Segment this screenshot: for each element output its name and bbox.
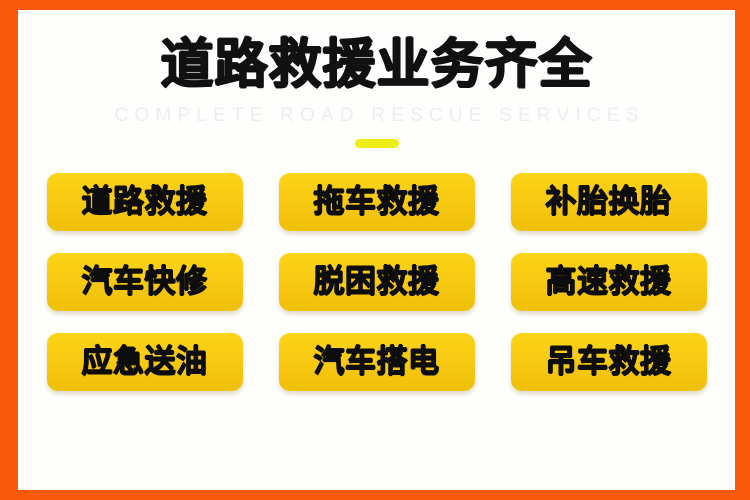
poster-frame: 道路救援业务齐全 COMPLETE ROAD RESCUE SERVICES 道… bbox=[0, 0, 750, 500]
service-button-label: 脱困救援 bbox=[314, 267, 440, 298]
service-button-label: 补胎换胎 bbox=[546, 187, 672, 218]
service-button-grid: 道路救援 拖车救援 补胎换胎 汽车快修 脱困救援 高速救援 应急送油 汽车搭电 bbox=[47, 148, 707, 391]
service-button-label: 道路救援 bbox=[82, 187, 208, 218]
service-button-emergency-fuel-delivery[interactable]: 应急送油 bbox=[47, 333, 243, 391]
poster-canvas: 道路救援业务齐全 COMPLETE ROAD RESCUE SERVICES 道… bbox=[18, 10, 735, 490]
accent-underline bbox=[355, 139, 399, 148]
service-button-extrication-rescue[interactable]: 脱困救援 bbox=[279, 253, 475, 311]
page-subtitle: COMPLETE ROAD RESCUE SERVICES bbox=[18, 105, 735, 127]
service-button-road-rescue[interactable]: 道路救援 bbox=[47, 173, 243, 231]
service-button-label: 拖车救援 bbox=[314, 187, 440, 218]
service-button-label: 应急送油 bbox=[82, 347, 208, 378]
header-block: 道路救援业务齐全 COMPLETE ROAD RESCUE SERVICES bbox=[18, 10, 735, 148]
service-button-quick-car-repair[interactable]: 汽车快修 bbox=[47, 253, 243, 311]
service-button-label: 汽车快修 bbox=[82, 267, 208, 298]
service-button-tow-rescue[interactable]: 拖车救援 bbox=[279, 173, 475, 231]
service-button-label: 高速救援 bbox=[546, 267, 672, 298]
service-button-jump-start[interactable]: 汽车搭电 bbox=[279, 333, 475, 391]
page-title: 道路救援业务齐全 bbox=[18, 38, 735, 92]
service-button-highway-rescue[interactable]: 高速救援 bbox=[511, 253, 707, 311]
service-button-tire-repair-replace[interactable]: 补胎换胎 bbox=[511, 173, 707, 231]
service-button-label: 吊车救援 bbox=[546, 347, 672, 378]
service-button-crane-rescue[interactable]: 吊车救援 bbox=[511, 333, 707, 391]
service-button-label: 汽车搭电 bbox=[314, 347, 440, 378]
